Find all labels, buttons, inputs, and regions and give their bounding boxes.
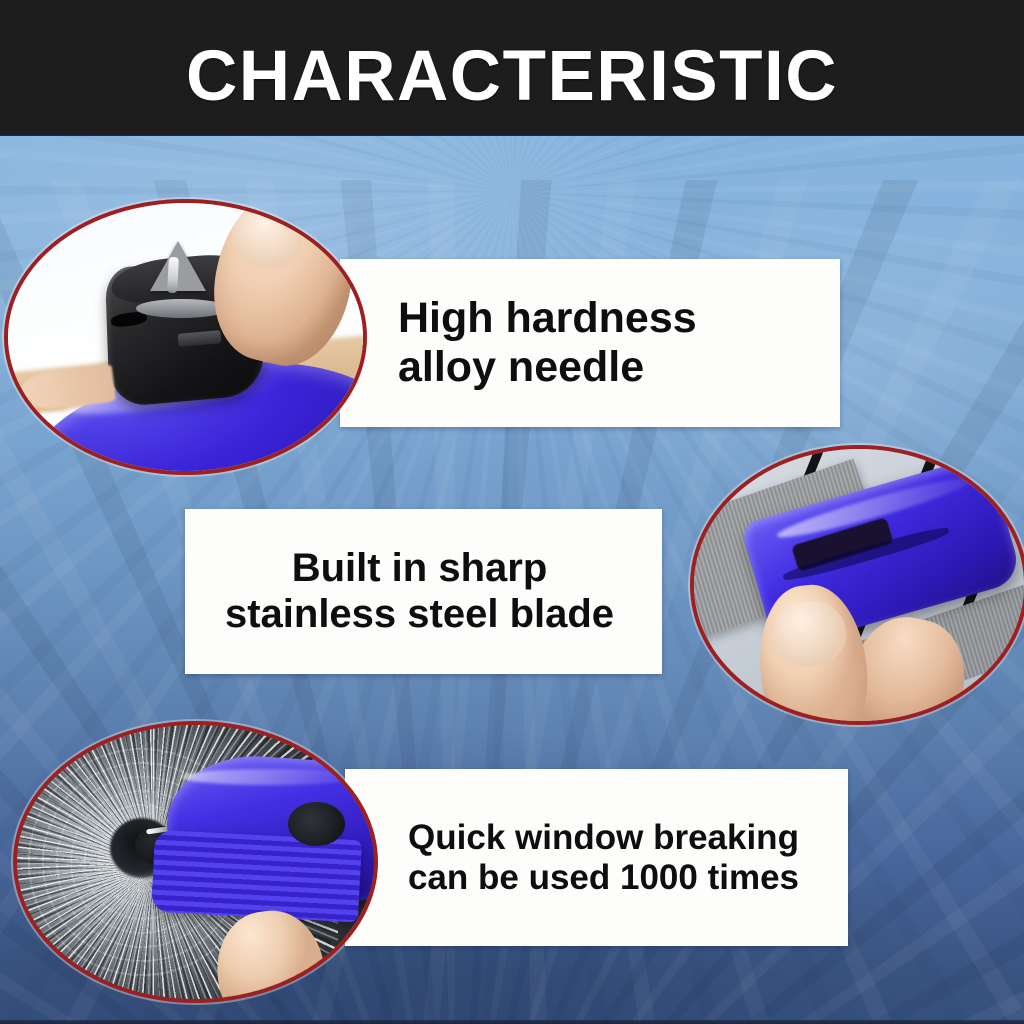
- feature-caption-panel-1: High hardness alloy needle: [340, 259, 840, 427]
- header-bar: CHARACTERISTIC: [0, 0, 1024, 136]
- feature-caption-text-2: Built in sharp stainless steel blade: [185, 546, 662, 637]
- photo3-tool-highlight: [181, 769, 360, 785]
- photo-alloy-needle-content: [8, 203, 363, 471]
- stage-bottom-edge: [0, 1020, 1024, 1024]
- photo3-rear-breaker-tip: [288, 802, 345, 846]
- photo-window-breaking: [17, 725, 374, 999]
- feature-caption-text-3: Quick window breaking can be used 1000 t…: [345, 818, 848, 898]
- characteristic-poster: CHARACTERISTIC CHARACTERISTIC High hardn…: [0, 0, 1024, 1024]
- feature-caption-text-1: High hardness alloy needle: [340, 294, 840, 392]
- photo1-needle-highlight: [167, 256, 179, 292]
- photo-seatbelt-cutter: [694, 449, 1024, 721]
- feature-caption-panel-3: Quick window breaking can be used 1000 t…: [345, 769, 848, 946]
- photo-alloy-needle: [8, 203, 363, 471]
- page-title: CHARACTERISTIC: [186, 41, 838, 112]
- feature-caption-panel-2: Built in sharp stainless steel blade: [185, 509, 662, 674]
- photo-window-breaking-content: [17, 725, 374, 999]
- photo-seatbelt-cutter-content: [694, 449, 1024, 721]
